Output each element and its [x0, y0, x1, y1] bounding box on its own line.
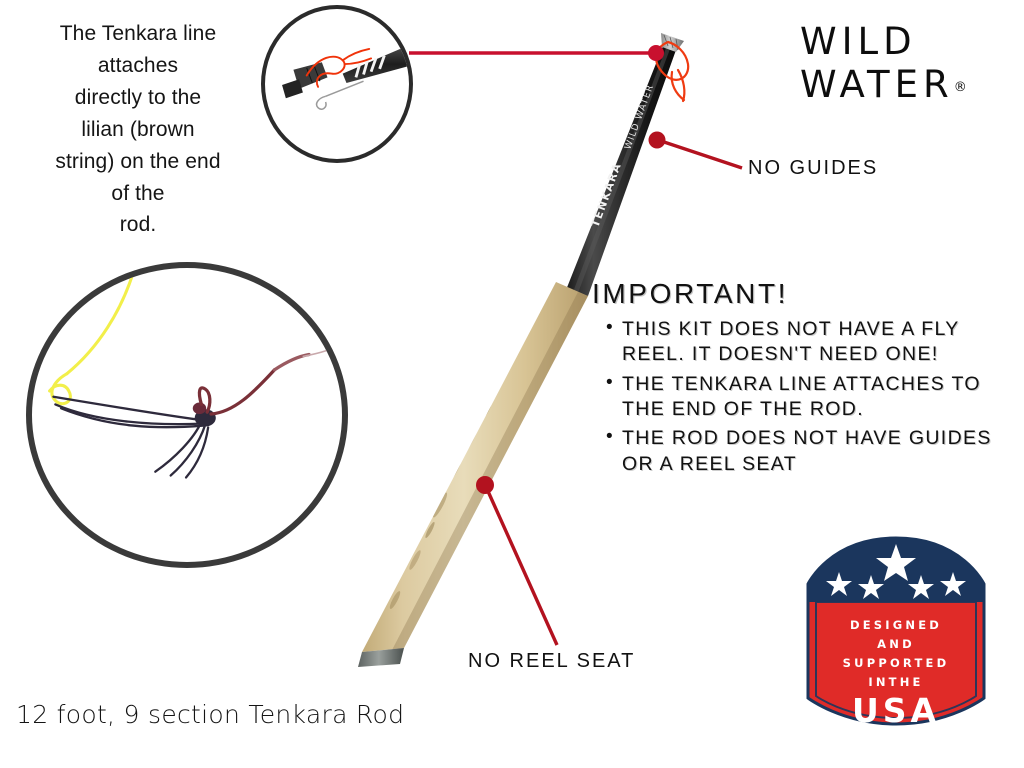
leader-line-tip-inset: [409, 45, 664, 61]
leader-line-no-reel-seat: [476, 476, 557, 645]
important-bullet-1: THIS KIT DOES NOT HAVE A FLY REEL. IT DO…: [606, 317, 1012, 368]
important-bullet-3: THE ROD DOES NOT HAVE GUIDES OR A REEL S…: [606, 426, 1012, 477]
product-description-caption: 12 foot, 9 section Tenkara Rod: [16, 700, 404, 729]
important-title: IMPORTANT!: [592, 278, 1012, 310]
logo-line-2: WATER®: [800, 63, 1000, 106]
logo-line-2-text: WATER: [800, 63, 954, 106]
tip-caption-text: The Tenkara line attaches directly to th…: [28, 18, 248, 241]
badge-line-designed: DESIGNED: [800, 618, 992, 632]
brand-logo: WILD WATER®: [800, 20, 1000, 107]
inset-fly-hook: [317, 81, 364, 109]
badge-line-inthe: INTHE: [800, 675, 992, 689]
important-bullet-list: THIS KIT DOES NOT HAVE A FLY REEL. IT DO…: [592, 317, 1012, 477]
inset-knot-drawing: [32, 268, 342, 562]
inset-yellow-line: [50, 276, 133, 404]
important-bullet-2: THE TENKARA LINE ATTACHES TO THE END OF …: [606, 372, 1012, 423]
leader-dot-tip: [648, 45, 664, 61]
inset-rod-tip-drawing: [265, 9, 409, 159]
important-notice-block: IMPORTANT! THIS KIT DOES NOT HAVE A FLY …: [592, 278, 1012, 481]
inset-line-knot-detail: [26, 262, 348, 568]
callout-label-no-reel-seat: NO REEL SEAT: [468, 650, 635, 673]
rod-blank: TENKARA WILD WATER: [566, 46, 676, 296]
callout-label-no-guides: NO GUIDES: [748, 157, 878, 180]
inset-brown-lilian: [199, 354, 309, 414]
leader-dot-no-guides: [649, 132, 666, 149]
leader-line-no-guides: [649, 132, 743, 169]
leader-dot-no-reel-seat: [476, 476, 494, 494]
badge-line-and: AND: [800, 637, 992, 651]
badge-line-supported: SUPPORTED: [800, 656, 992, 670]
inset-connector-plug: [282, 62, 327, 98]
registered-mark-icon: ®: [954, 80, 967, 95]
cork-grip: [362, 282, 588, 652]
designed-in-usa-badge: DESIGNED AND SUPPORTED INTHE USA: [800, 528, 992, 734]
inset-dark-tippet: [53, 397, 208, 478]
badge-line-usa: USA: [800, 691, 992, 730]
logo-line-1: WILD: [800, 20, 1000, 63]
inset-rod-tip-detail: [261, 5, 413, 163]
